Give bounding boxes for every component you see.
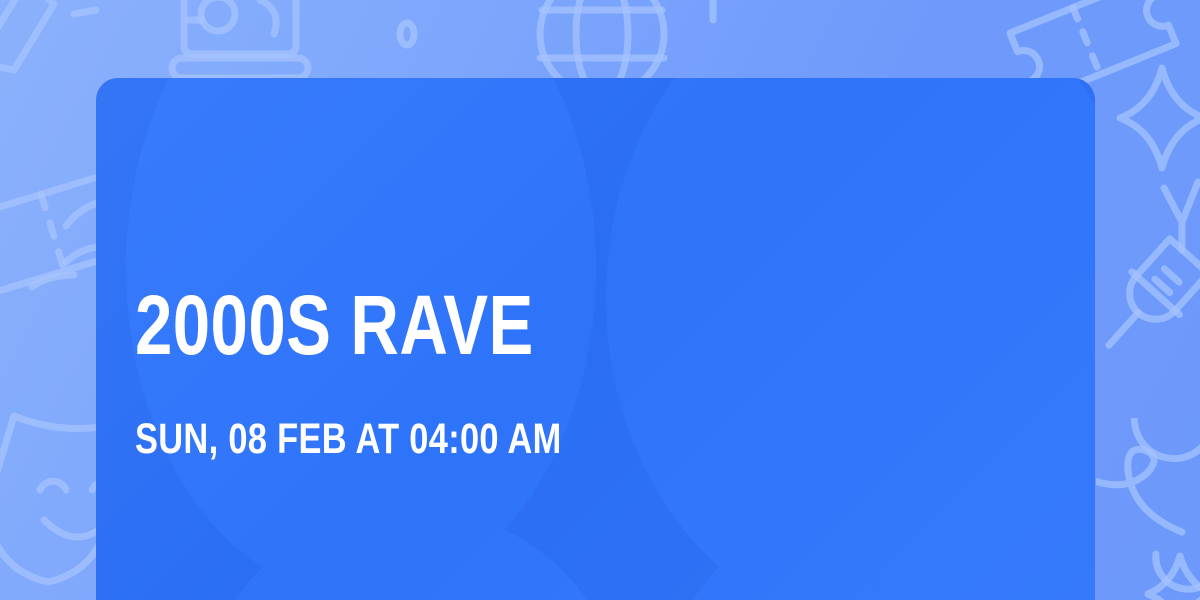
streamer-swirl-icon <box>28 265 80 297</box>
event-banner: 2000S RAVE SUN, 08 FEB AT 04:00 AM <box>0 0 1200 600</box>
confetti-icon <box>392 14 422 54</box>
event-title: 2000S RAVE <box>135 283 534 367</box>
confetti-icon <box>700 0 726 30</box>
party-popper-icon <box>0 0 106 96</box>
event-card[interactable]: 2000S RAVE SUN, 08 FEB AT 04:00 AM <box>96 78 1095 600</box>
streamer-swirl-icon <box>1096 418 1200 600</box>
sparkle-icon <box>1106 58 1200 178</box>
sparkle-icon <box>1140 548 1200 600</box>
microphone-icon <box>1104 230 1200 380</box>
event-datetime: SUN, 08 FEB AT 04:00 AM <box>135 418 562 461</box>
champagne-glass-icon <box>1148 178 1200 268</box>
card-content: 2000S RAVE SUN, 08 FEB AT 04:00 AM <box>135 78 1035 600</box>
